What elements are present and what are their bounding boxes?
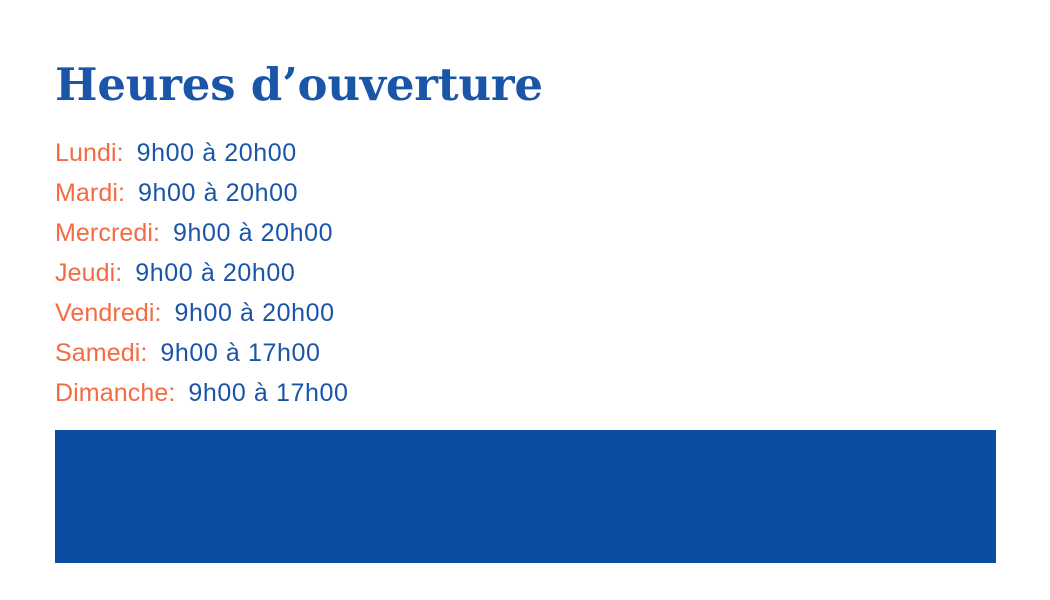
list-item: Jeudi: 9h00 à 20h00 xyxy=(55,253,349,293)
time-value: 9h00 à 20h00 xyxy=(169,299,335,327)
list-item: Samedi: 9h00 à 17h00 xyxy=(55,333,349,373)
day-label: Dimanche: xyxy=(55,379,175,407)
blue-banner xyxy=(55,430,996,563)
opening-hours-list: Lundi: 9h00 à 20h00 Mardi: 9h00 à 20h00 … xyxy=(55,133,349,413)
day-label: Samedi: xyxy=(55,339,147,367)
list-item: Mardi: 9h00 à 20h00 xyxy=(55,173,349,213)
day-label: Vendredi: xyxy=(55,299,162,327)
day-label: Mercredi: xyxy=(55,219,160,247)
time-value: 9h00 à 20h00 xyxy=(129,259,295,287)
list-item: Vendredi: 9h00 à 20h00 xyxy=(55,293,349,333)
page-title: Heures d’ouverture xyxy=(55,59,543,111)
time-value: 9h00 à 17h00 xyxy=(154,339,320,367)
day-label: Jeudi: xyxy=(55,259,122,287)
list-item: Lundi: 9h00 à 20h00 xyxy=(55,133,349,173)
slide-canvas: Heures d’ouverture Lundi: 9h00 à 20h00 M… xyxy=(0,0,1050,600)
day-label: Lundi: xyxy=(55,139,124,167)
time-value: 9h00 à 20h00 xyxy=(132,179,298,207)
time-value: 9h00 à 20h00 xyxy=(131,139,297,167)
list-item: Dimanche: 9h00 à 17h00 xyxy=(55,373,349,413)
time-value: 9h00 à 17h00 xyxy=(182,379,348,407)
list-item: Mercredi: 9h00 à 20h00 xyxy=(55,213,349,253)
time-value: 9h00 à 20h00 xyxy=(167,219,333,247)
day-label: Mardi: xyxy=(55,179,125,207)
